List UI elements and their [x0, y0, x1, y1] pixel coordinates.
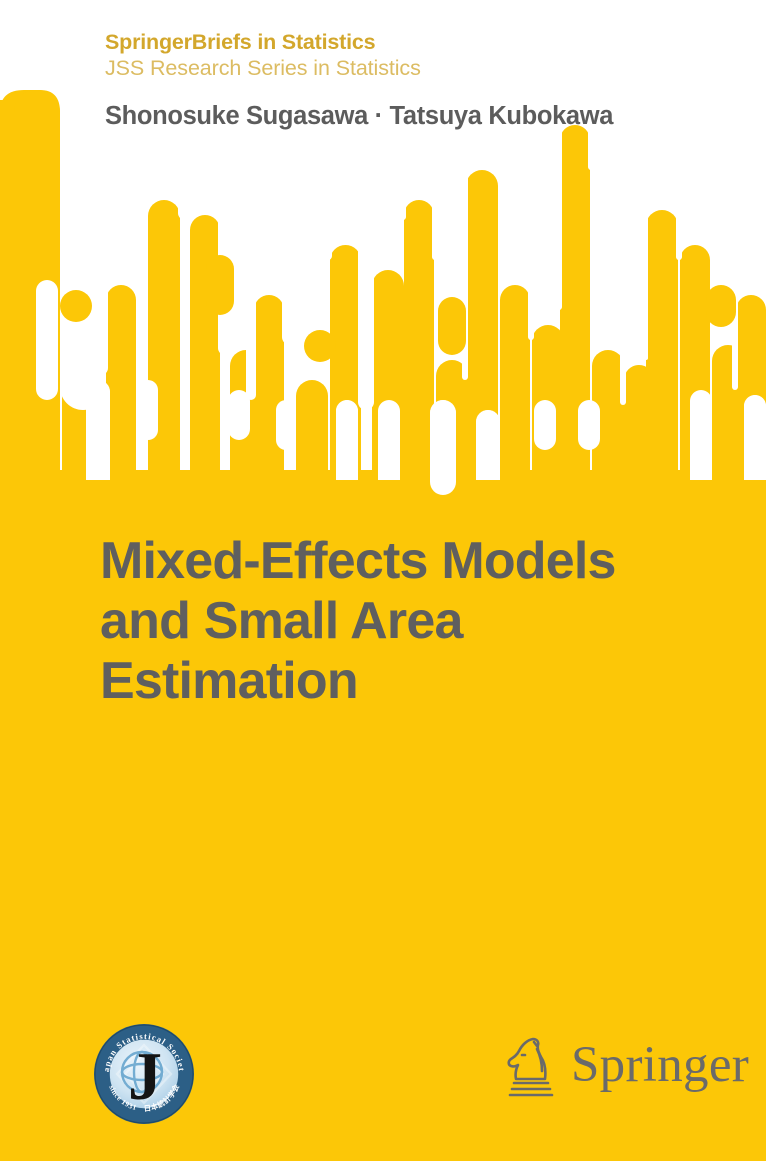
series-block: SpringerBriefs in Statistics JSS Researc…: [105, 30, 421, 82]
book-title: Mixed-Effects Models and Small Area Esti…: [100, 531, 700, 711]
springer-wordmark: Springer: [571, 1040, 749, 1096]
author-line: Shonosuke Sugasawa · Tatsuya Kubokawa: [105, 102, 613, 131]
book-title-line-1: Mixed-Effects Models: [100, 531, 700, 591]
springer-publisher-logo: Springer: [503, 1032, 749, 1104]
series-title-primary: SpringerBriefs in Statistics: [105, 30, 421, 55]
book-cover: SpringerBriefs in Statistics JSS Researc…: [0, 0, 766, 1161]
knight-chess-piece-icon: [503, 1033, 561, 1103]
japan-statistical-society-seal-icon: J Japan Statistical Society since 1931 日…: [93, 1023, 195, 1125]
series-title-secondary: JSS Research Series in Statistics: [105, 55, 421, 81]
book-title-line-3: Estimation: [100, 651, 700, 711]
book-title-line-2: and Small Area: [100, 591, 700, 651]
